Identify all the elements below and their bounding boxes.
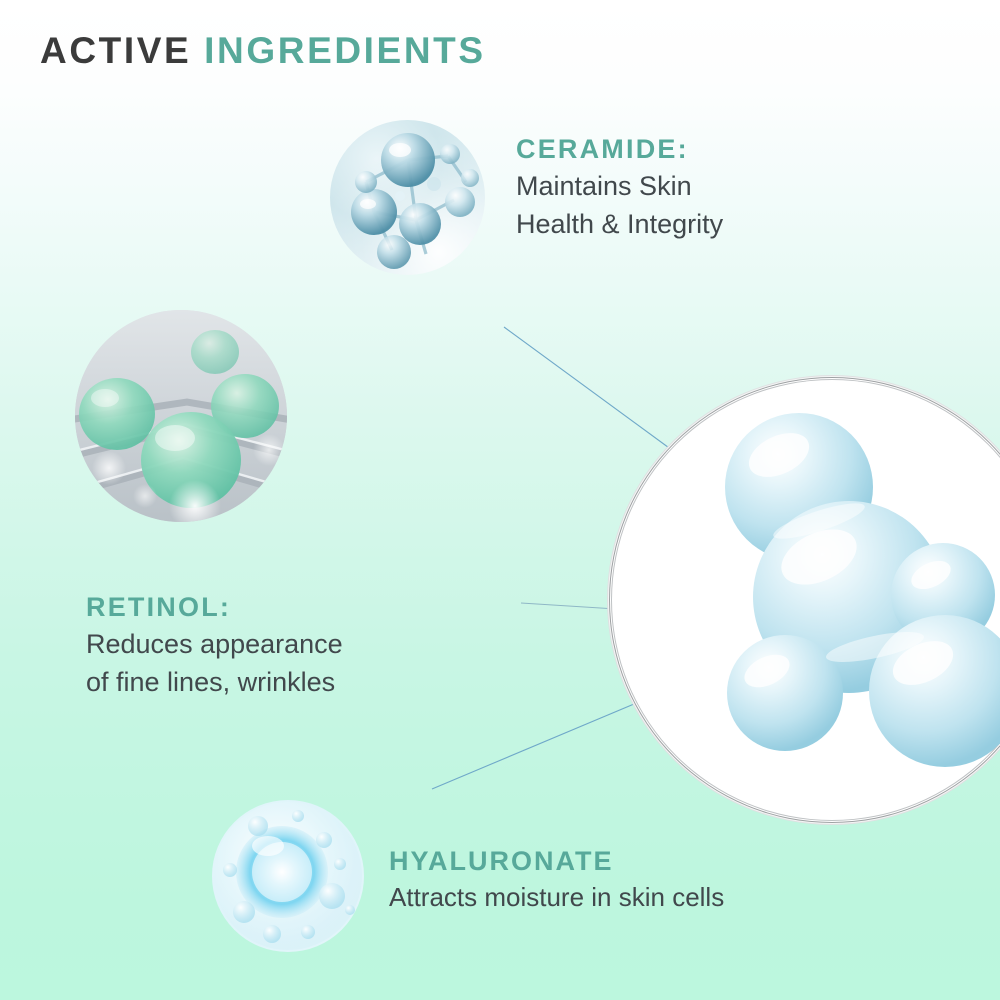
retinol-droplets-thumbnail	[75, 310, 287, 522]
ingredient-block-hyaluronate: HYALURONATE Attracts moisture in skin ce…	[389, 845, 724, 916]
ingredient-heading-retinol: RETINOL:	[86, 591, 343, 625]
active-ingredients-poster: ACTIVE INGREDIENTS	[0, 0, 1000, 1000]
molecule-sphere-bottom-left	[727, 635, 843, 751]
ingredient-block-retinol: RETINOL: Reduces appearance of fine line…	[86, 591, 343, 701]
ingredient-desc-hyaluronate-line1: Attracts moisture in skin cells	[389, 879, 724, 916]
hero-molecule-circle	[613, 381, 1000, 819]
connector-line-hyaluronate	[432, 704, 634, 789]
ingredient-desc-retinol-line2: of fine lines, wrinkles	[86, 663, 343, 701]
page-title: ACTIVE INGREDIENTS	[40, 31, 486, 72]
ingredient-desc-ceramide-line2: Health & Integrity	[516, 205, 723, 243]
ingredient-heading-hyaluronate: HYALURONATE	[389, 845, 724, 879]
hyaluronate-bubble-graphic	[212, 800, 364, 952]
title-word-ingredients: INGREDIENTS	[204, 30, 485, 71]
title-word-active: ACTIVE	[40, 30, 191, 71]
ingredient-heading-ceramide: CERAMIDE:	[516, 133, 723, 167]
hero-molecule-graphic	[613, 381, 1000, 819]
ingredient-desc-retinol-line1: Reduces appearance	[86, 625, 343, 663]
ceramide-network-graphic	[330, 120, 485, 275]
hyaluronate-bubble-thumbnail	[212, 800, 364, 952]
ingredient-block-ceramide: CERAMIDE: Maintains Skin Health & Integr…	[516, 133, 723, 243]
retinol-droplets-graphic	[75, 310, 287, 522]
ceramide-molecule-thumbnail	[330, 120, 485, 275]
ingredient-desc-ceramide-line1: Maintains Skin	[516, 167, 723, 205]
